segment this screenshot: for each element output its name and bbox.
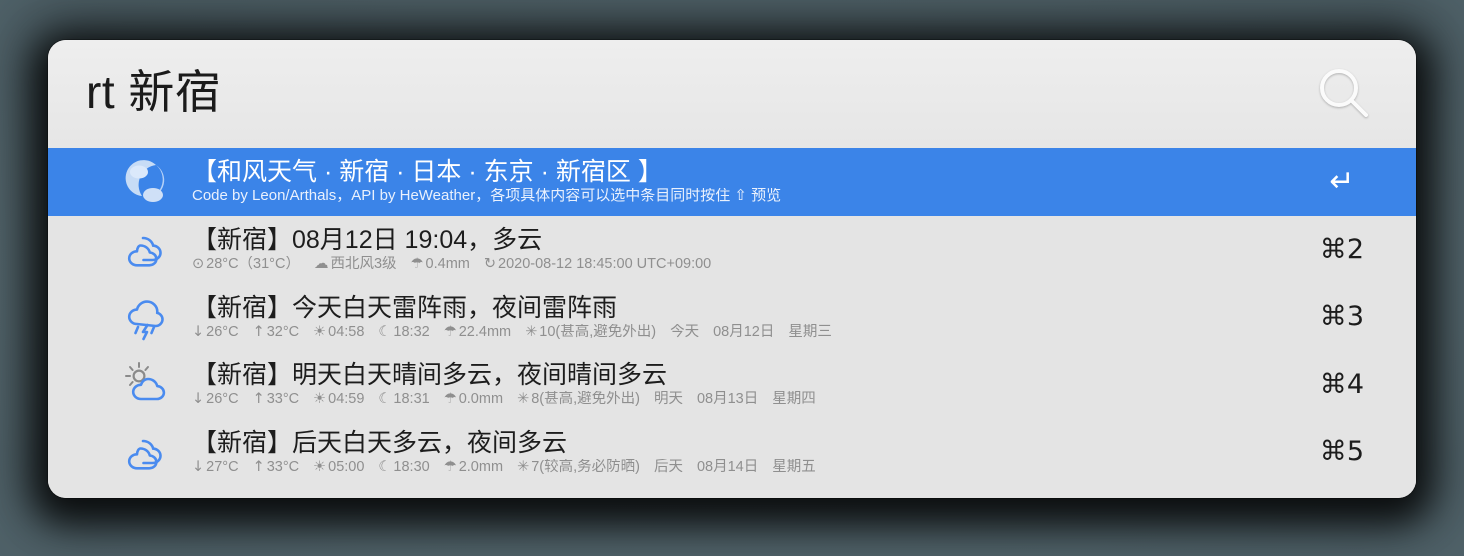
subtitle-glyph-icon: ☾ bbox=[378, 324, 391, 340]
subtitle-segment: ☀04:58 bbox=[313, 324, 364, 340]
subtitle-glyph-icon: ☁ bbox=[314, 256, 329, 272]
subtitle-segment: ↑33°C bbox=[253, 459, 300, 475]
subtitle-segment: ✳7(较高,务必防晒) bbox=[517, 459, 640, 475]
alfred-window: rt 新宿 【和风天气 · 新宿 · 日本 · 东京 · 新宿区 】 Code … bbox=[48, 40, 1416, 498]
subtitle-segment: 后天 bbox=[654, 459, 683, 475]
subtitle-glyph-icon: ☂ bbox=[444, 459, 457, 475]
subtitle-glyph-icon: ✳ bbox=[525, 324, 537, 340]
subtitle-glyph-icon: ↓ bbox=[192, 459, 204, 475]
result-subtitle: ↓26°C↑32°C☀04:58☾18:32☂22.4mm✳10(甚高,避免外出… bbox=[192, 324, 1294, 340]
subtitle-segment: ☂0.4mm bbox=[411, 256, 470, 272]
subtitle-glyph-icon: ✳ bbox=[517, 459, 529, 475]
subtitle-segment: ☾18:31 bbox=[378, 391, 429, 407]
subtitle-segment: 星期三 bbox=[788, 324, 832, 340]
subtitle-glyph-icon: ☂ bbox=[444, 391, 457, 407]
result-subtitle: ↓27°C↑33°C☀05:00☾18:30☂2.0mm✳7(较高,务必防晒)后… bbox=[192, 459, 1294, 475]
result-row-3[interactable]: 【新宿】今天白天雷阵雨，夜间雷阵雨 ↓26°C↑32°C☀04:58☾18:32… bbox=[48, 283, 1416, 351]
subtitle-segment: ↓26°C bbox=[192, 324, 239, 340]
subtitle-segment: ↑32°C bbox=[253, 324, 300, 340]
moon-cloud-icon bbox=[120, 155, 174, 209]
subtitle-segment: ↑33°C bbox=[253, 391, 300, 407]
subtitle-glyph-icon: ☾ bbox=[378, 459, 391, 475]
subtitle-segment: ☂0.0mm bbox=[444, 391, 503, 407]
subtitle-segment: ☂2.0mm bbox=[444, 459, 503, 475]
result-text-block: 【新宿】后天白天多云，夜间多云 ↓27°C↑33°C☀05:00☾18:30☂2… bbox=[186, 429, 1294, 475]
subtitle-glyph-icon: ↓ bbox=[192, 391, 204, 407]
subtitle-glyph-icon: ☀ bbox=[313, 391, 326, 407]
search-input[interactable]: rt 新宿 bbox=[86, 69, 1314, 119]
result-title: 【新宿】后天白天多云，夜间多云 bbox=[192, 429, 1294, 457]
result-text-block: 【新宿】今天白天雷阵雨，夜间雷阵雨 ↓26°C↑32°C☀04:58☾18:32… bbox=[186, 294, 1294, 340]
subtitle-segment: 08月13日 bbox=[697, 391, 758, 407]
result-title: 【新宿】明天白天晴间多云，夜间晴间多云 bbox=[192, 361, 1294, 389]
subtitle-glyph-icon: ⊙ bbox=[192, 256, 204, 272]
subtitle-segment: ☾18:32 bbox=[378, 324, 429, 340]
result-row-4[interactable]: 【新宿】明天白天晴间多云，夜间晴间多云 ↓26°C↑33°C☀04:59☾18:… bbox=[48, 351, 1416, 419]
subtitle-segment: 08月14日 bbox=[697, 459, 758, 475]
subtitle-segment: ⊙28°C（31°C） bbox=[192, 256, 300, 272]
subtitle-glyph-icon: ↑ bbox=[253, 459, 265, 475]
subtitle-segment: 今天 bbox=[670, 324, 699, 340]
cloudy-icon bbox=[120, 425, 174, 479]
subtitle-segment: ↓27°C bbox=[192, 459, 239, 475]
shortcut-cmd-2[interactable]: ⌘2 bbox=[1294, 234, 1390, 265]
results-list: 【和风天气 · 新宿 · 日本 · 东京 · 新宿区 】 Code by Leo… bbox=[48, 148, 1416, 498]
subtitle-segment: ↻2020-08-12 18:45:00 UTC+09:00 bbox=[484, 256, 711, 272]
subtitle-segment: 星期五 bbox=[772, 459, 816, 475]
shortcut-cmd-3[interactable]: ⌘3 bbox=[1294, 301, 1390, 332]
subtitle-glyph-icon: ↑ bbox=[253, 324, 265, 340]
subtitle-segment: ✳8(甚高,避免外出) bbox=[517, 391, 640, 407]
subtitle-segment: ☂22.4mm bbox=[444, 324, 511, 340]
result-row-5[interactable]: 【新宿】后天白天多云，夜间多云 ↓27°C↑33°C☀05:00☾18:30☂2… bbox=[48, 418, 1416, 486]
subtitle-segment: ↓26°C bbox=[192, 391, 239, 407]
subtitle-segment: ☾18:30 bbox=[378, 459, 429, 475]
result-title: 【和风天气 · 新宿 · 日本 · 东京 · 新宿区 】 bbox=[192, 158, 1294, 186]
result-title: 【新宿】08月12日 19:04，多云 bbox=[192, 226, 1294, 254]
subtitle-segment: ☁西北风3级 bbox=[314, 256, 397, 272]
result-text-block: 【新宿】08月12日 19:04，多云 ⊙28°C（31°C）☁西北风3级☂0.… bbox=[186, 226, 1294, 272]
subtitle-glyph-icon: ☂ bbox=[411, 256, 424, 272]
thunderstorm-icon bbox=[120, 290, 174, 344]
search-icon[interactable] bbox=[1314, 63, 1376, 125]
subtitle-glyph-icon: ↑ bbox=[253, 391, 265, 407]
subtitle-segment: 明天 bbox=[654, 391, 683, 407]
result-subtitle: ↓26°C↑33°C☀04:59☾18:31☂0.0mm✳8(甚高,避免外出)明… bbox=[192, 391, 1294, 407]
subtitle-segment: ✳10(甚高,避免外出) bbox=[525, 324, 656, 340]
shortcut-cmd-4[interactable]: ⌘4 bbox=[1294, 369, 1390, 400]
subtitle-glyph-icon: ↻ bbox=[484, 256, 496, 272]
result-title: 【新宿】今天白天雷阵雨，夜间雷阵雨 bbox=[192, 294, 1294, 322]
cloudy-icon bbox=[120, 222, 174, 276]
shortcut-cmd-5[interactable]: ⌘5 bbox=[1294, 436, 1390, 467]
shortcut-return[interactable]: ↵ bbox=[1294, 164, 1390, 199]
subtitle-segment: 星期四 bbox=[772, 391, 816, 407]
result-text-block: 【新宿】明天白天晴间多云，夜间晴间多云 ↓26°C↑33°C☀04:59☾18:… bbox=[186, 361, 1294, 407]
subtitle-glyph-icon: ✳ bbox=[517, 391, 529, 407]
search-bar[interactable]: rt 新宿 bbox=[48, 40, 1416, 148]
subtitle-glyph-icon: ☂ bbox=[444, 324, 457, 340]
subtitle-glyph-icon: ↓ bbox=[192, 324, 204, 340]
subtitle-segment: ☀05:00 bbox=[313, 459, 364, 475]
result-subtitle: ⊙28°C（31°C）☁西北风3级☂0.4mm↻2020-08-12 18:45… bbox=[192, 256, 1294, 272]
subtitle-segment: ☀04:59 bbox=[313, 391, 364, 407]
sun-cloud-icon bbox=[120, 357, 174, 411]
result-text-block: 【和风天气 · 新宿 · 日本 · 东京 · 新宿区 】 Code by Leo… bbox=[186, 158, 1294, 205]
subtitle-glyph-icon: ☀ bbox=[313, 459, 326, 475]
subtitle-segment: 08月12日 bbox=[713, 324, 774, 340]
subtitle-glyph-icon: ☾ bbox=[378, 391, 391, 407]
result-row-2[interactable]: 【新宿】08月12日 19:04，多云 ⊙28°C（31°C）☁西北风3级☂0.… bbox=[48, 216, 1416, 284]
result-row-1[interactable]: 【和风天气 · 新宿 · 日本 · 东京 · 新宿区 】 Code by Leo… bbox=[48, 148, 1416, 216]
subtitle-glyph-icon: ☀ bbox=[313, 324, 326, 340]
result-subtitle: Code by Leon/Arthals，API by HeWeather，各项… bbox=[192, 188, 1294, 205]
